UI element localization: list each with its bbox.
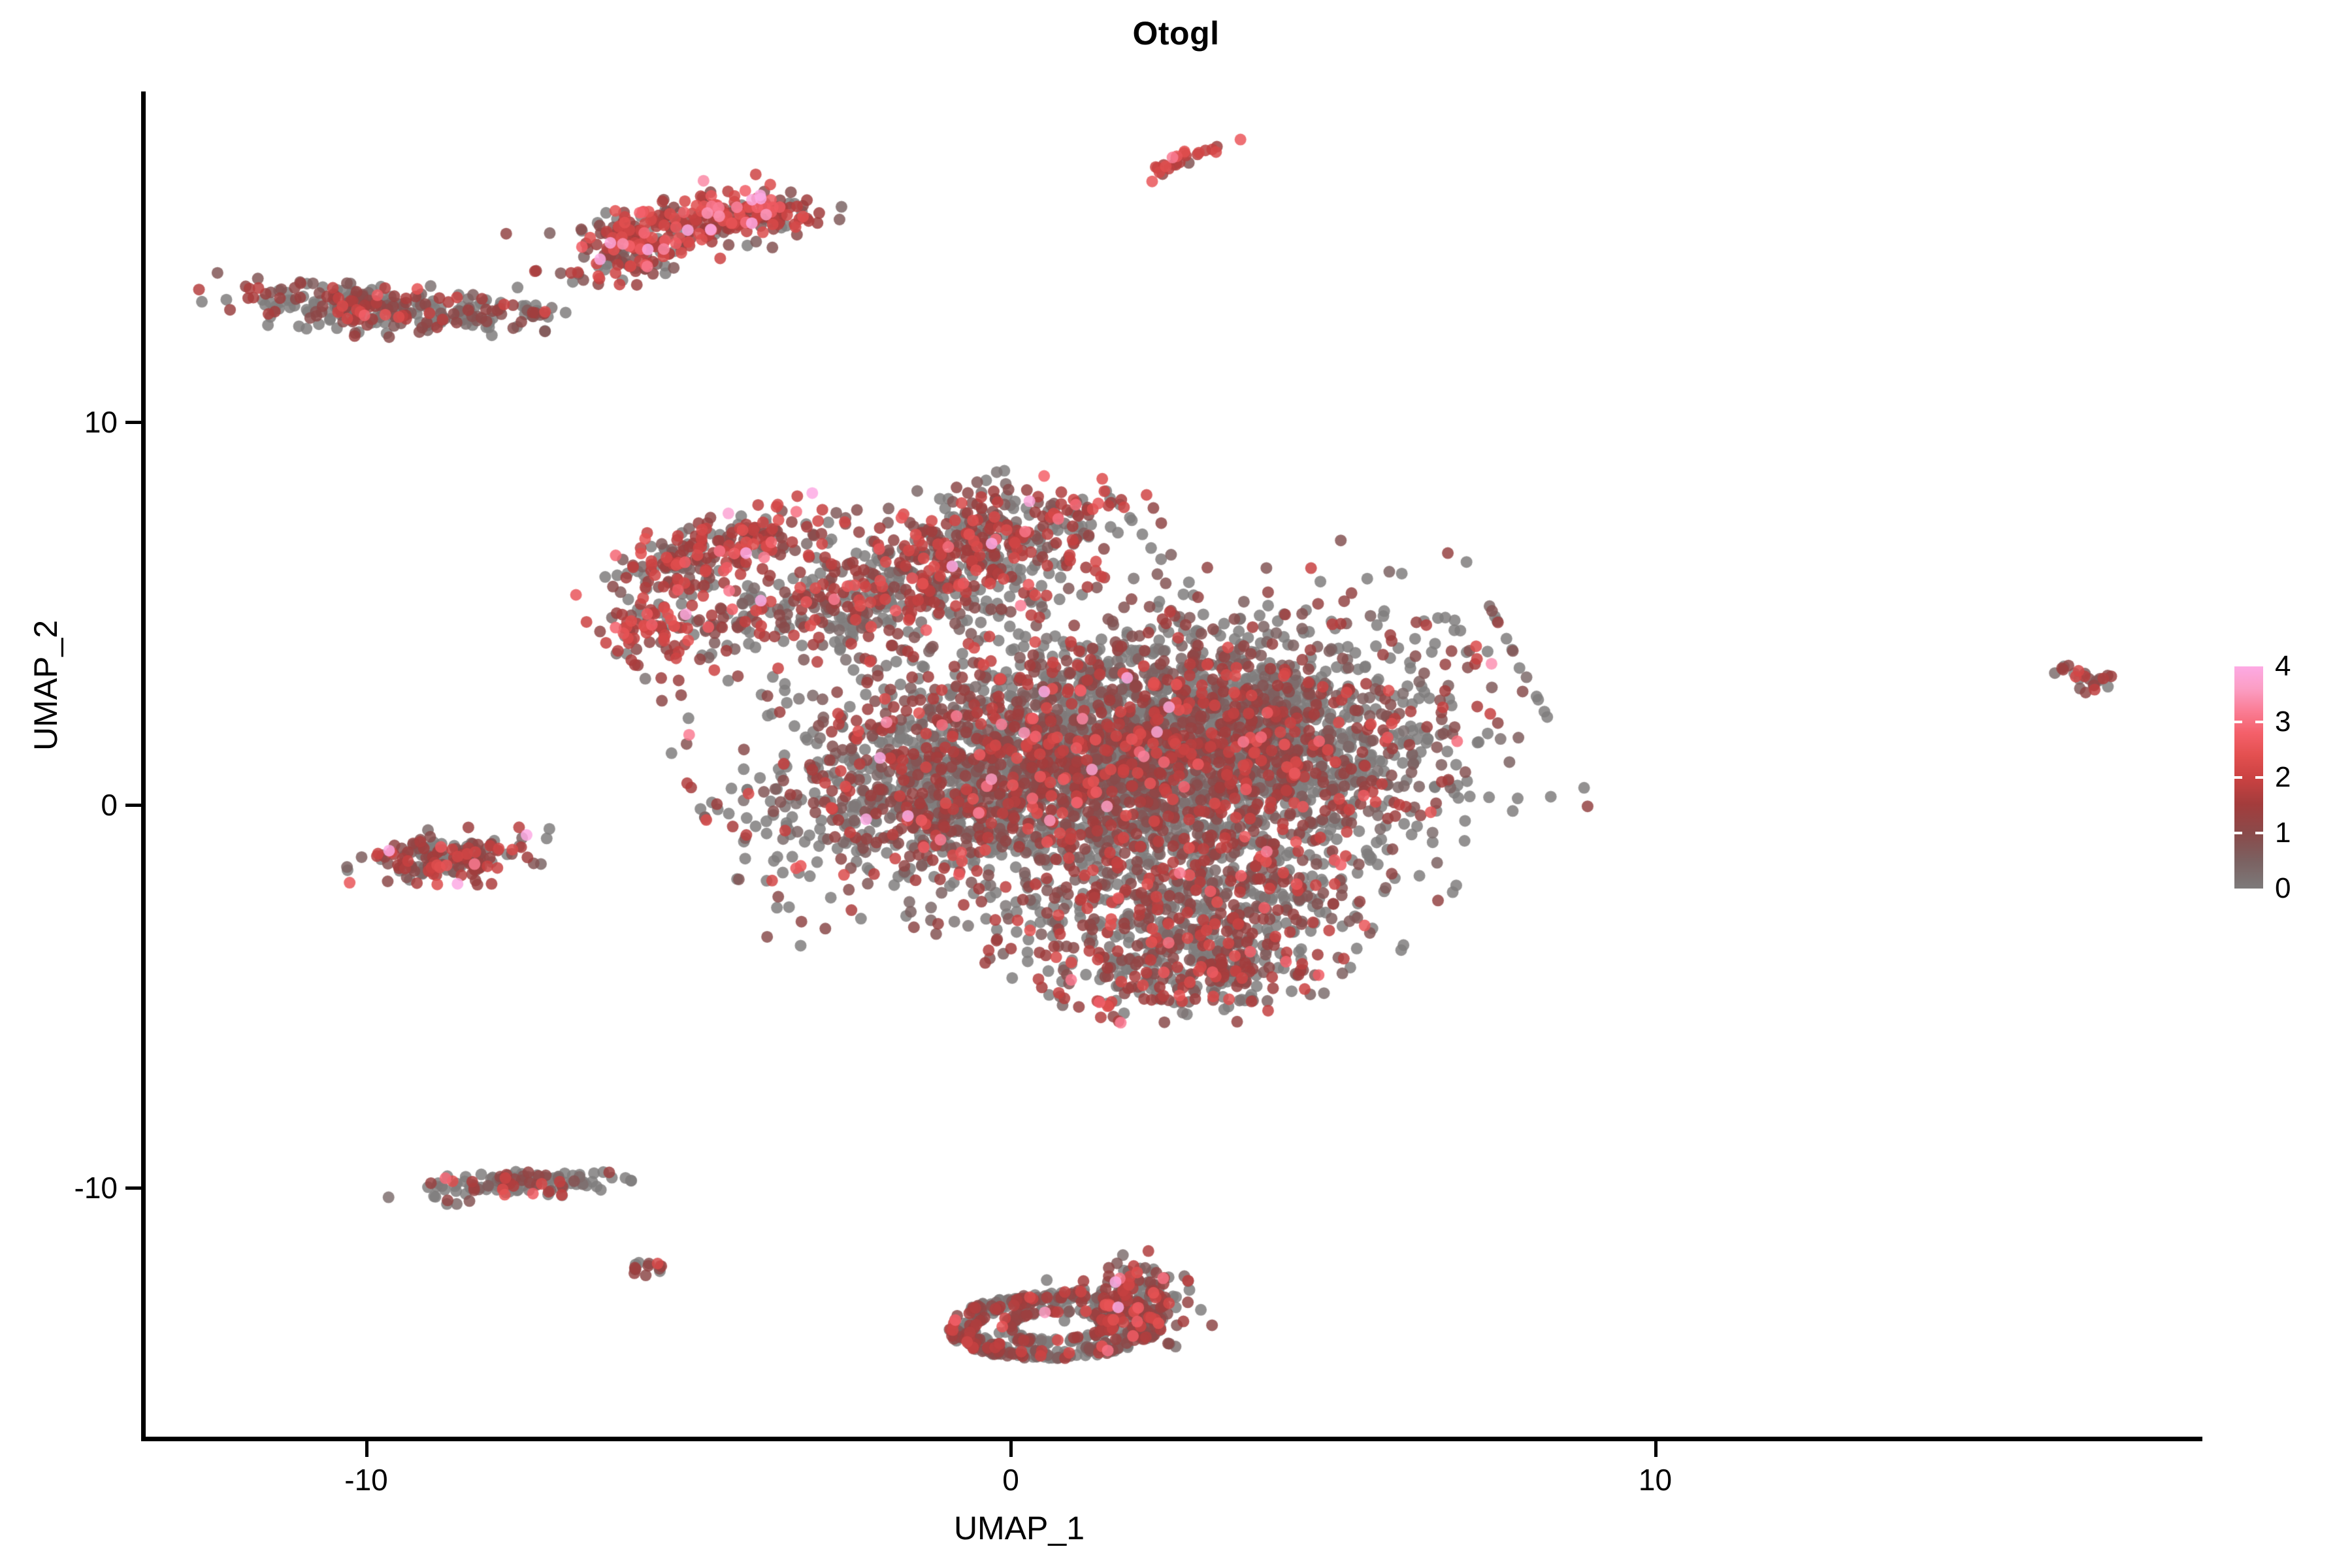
x-axis-line: [141, 1437, 2202, 1441]
y-tick-label: 0: [101, 787, 118, 823]
scatter-panel: [145, 91, 2203, 1439]
colorbar-label: 4: [2275, 650, 2291, 683]
y-tick-mark: [125, 421, 141, 424]
colorbar-tick-mark: [2255, 832, 2263, 834]
x-axis-title: UMAP_1: [882, 1509, 1156, 1547]
page-title: Otogl: [0, 14, 2352, 52]
x-tick-mark: [365, 1441, 368, 1457]
umap-scatter-canvas: [145, 91, 2203, 1439]
y-tick-mark: [125, 1186, 141, 1190]
colorbar-tick-mark: [2255, 721, 2263, 723]
colorbar-tick-mark: [2234, 776, 2242, 779]
colorbar-tick-mark: [2255, 776, 2263, 779]
y-tick-mark: [125, 804, 141, 807]
feature-plot-root: Otogl -10010 -10010 UMAP_1 UMAP_2 01234: [0, 0, 2352, 1568]
x-tick-label: 10: [1639, 1462, 1672, 1497]
y-axis-title: UMAP_2: [27, 548, 65, 823]
color-legend: 01234: [2234, 666, 2339, 902]
plot-title-text: Otogl: [1132, 14, 1219, 52]
x-tick-mark: [1009, 1441, 1013, 1457]
y-tick-label: 10: [84, 404, 118, 440]
colorbar-tick-mark: [2234, 721, 2242, 723]
y-axis-line: [141, 91, 146, 1441]
x-tick-mark: [1654, 1441, 1658, 1457]
colorbar-label: 2: [2275, 761, 2291, 794]
colorbar-label: 3: [2275, 706, 2291, 738]
y-tick-label: -10: [74, 1170, 118, 1205]
x-tick-label: 0: [1002, 1462, 1019, 1497]
colorbar-label: 0: [2275, 872, 2291, 905]
colorbar-tick-mark: [2234, 832, 2242, 834]
colorbar-label: 1: [2275, 817, 2291, 849]
x-tick-label: -10: [344, 1462, 387, 1497]
